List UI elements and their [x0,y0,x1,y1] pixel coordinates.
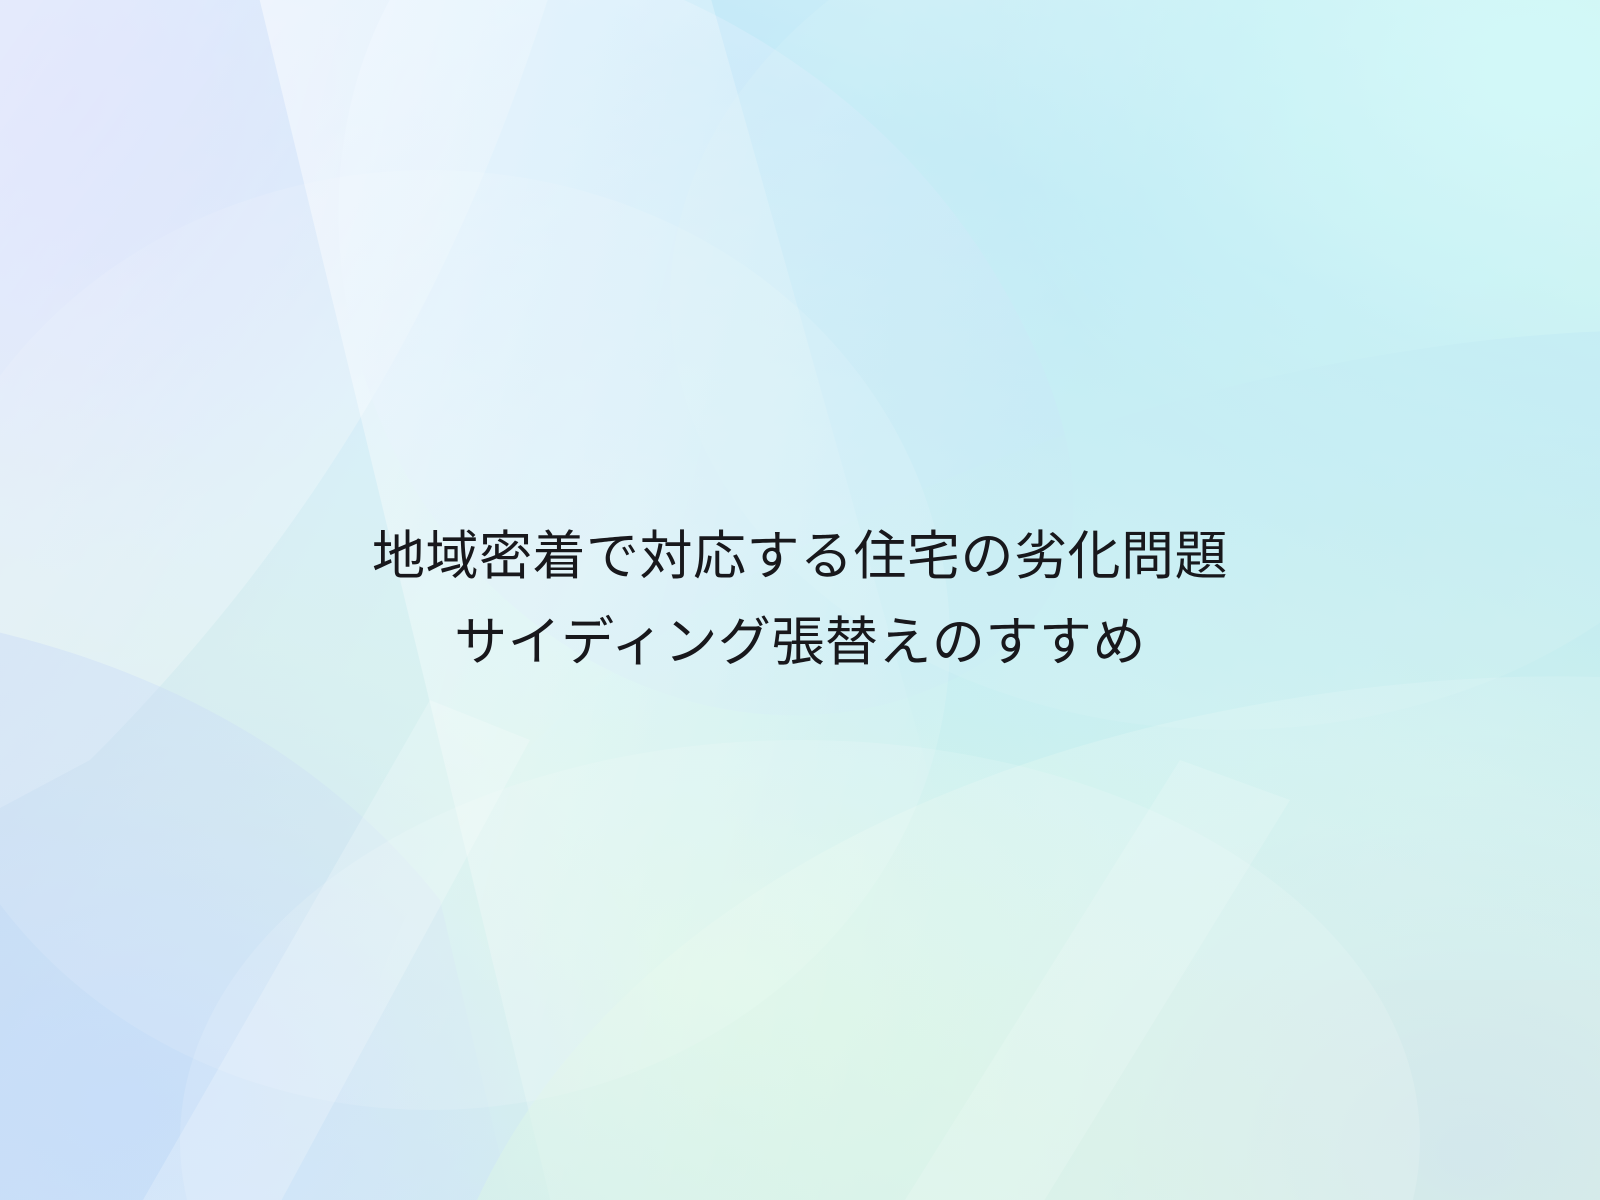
title-slide: 地域密着で対応する住宅の劣化問題 サイディング張替えのすすめ [0,0,1600,1200]
slide-title: 地域密着で対応する住宅の劣化問題 サイディング張替えのすすめ [35,514,1565,686]
title-container: 地域密着で対応する住宅の劣化問題 サイディング張替えのすすめ [0,0,1600,1200]
